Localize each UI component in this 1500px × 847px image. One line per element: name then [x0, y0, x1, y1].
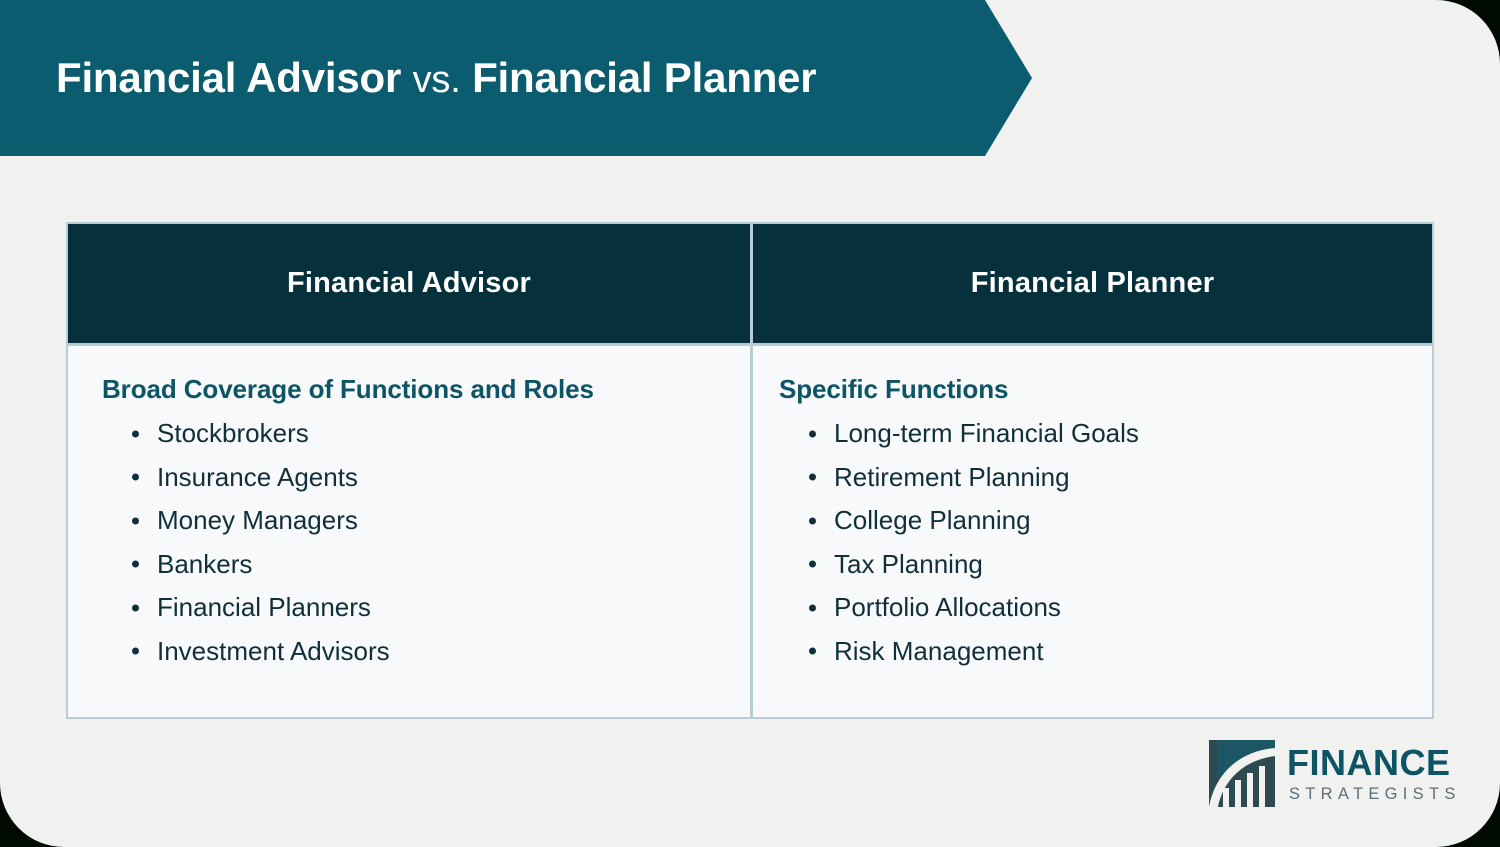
table-header-cell-financial-planner: Financial Planner — [750, 224, 1432, 343]
bullet-dot-icon — [132, 474, 139, 481]
bullet-dot-icon — [809, 604, 816, 611]
table-body-row: Broad Coverage of Functions and Roles St… — [68, 343, 1432, 717]
list-item: Bankers — [102, 543, 720, 587]
list-item-label: Insurance Agents — [157, 462, 358, 492]
header-banner: Financial Advisor vs. Financial Planner — [0, 0, 1032, 156]
list-item: Stockbrokers — [102, 412, 720, 456]
logo-primary-text: FINANCE — [1287, 745, 1461, 781]
cell-heading: Specific Functions — [779, 374, 1402, 405]
table-header-label: Financial Advisor — [287, 267, 531, 300]
bullet-dot-icon — [132, 648, 139, 655]
table-header-row: Financial Advisor Financial Planner — [68, 224, 1432, 343]
list-item-label: Tax Planning — [834, 549, 983, 579]
comparison-table: Financial Advisor Financial Planner Broa… — [66, 222, 1434, 719]
title-vs-separator: vs. — [413, 59, 461, 101]
list-item: Long-term Financial Goals — [779, 412, 1402, 456]
list-item: Money Managers — [102, 499, 720, 543]
table-cell-financial-advisor: Broad Coverage of Functions and Roles St… — [68, 346, 750, 717]
list-item-label: Long-term Financial Goals — [834, 418, 1139, 448]
bullet-dot-icon — [132, 604, 139, 611]
bullet-dot-icon — [809, 561, 816, 568]
list-item: Financial Planners — [102, 586, 720, 630]
bullet-dot-icon — [132, 561, 139, 568]
list-item: Investment Advisors — [102, 630, 720, 674]
list-item-label: Investment Advisors — [157, 636, 390, 666]
list-item: Insurance Agents — [102, 456, 720, 500]
list-item: Risk Management — [779, 630, 1402, 674]
bullet-dot-icon — [809, 517, 816, 524]
title-right-term: Financial Planner — [472, 54, 816, 101]
table-header-label: Financial Planner — [971, 267, 1215, 300]
finance-strategists-bar-chart-icon — [1209, 740, 1275, 807]
list-item-label: Portfolio Allocations — [834, 592, 1061, 622]
brand-logo: FINANCE STRATEGISTS — [1209, 740, 1461, 807]
list-item-label: Retirement Planning — [834, 462, 1070, 492]
table-header-cell-financial-advisor: Financial Advisor — [68, 224, 750, 343]
list-item-label: Financial Planners — [157, 592, 371, 622]
list-item-label: Risk Management — [834, 636, 1044, 666]
list-item-label: Bankers — [157, 549, 252, 579]
logo-wordmark: FINANCE STRATEGISTS — [1287, 745, 1461, 803]
list-item-label: Money Managers — [157, 505, 358, 535]
page-title: Financial Advisor vs. Financial Planner — [56, 54, 816, 102]
bullet-dot-icon — [809, 474, 816, 481]
bullet-dot-icon — [132, 430, 139, 437]
bullet-list-financial-advisor: Stockbrokers Insurance Agents Money Mana… — [102, 412, 720, 673]
table-cell-financial-planner: Specific Functions Long-term Financial G… — [750, 346, 1432, 717]
title-left-term: Financial Advisor — [56, 54, 401, 101]
list-item: College Planning — [779, 499, 1402, 543]
bullet-list-financial-planner: Long-term Financial Goals Retirement Pla… — [779, 412, 1402, 673]
list-item-label: Stockbrokers — [157, 418, 309, 448]
list-item: Tax Planning — [779, 543, 1402, 587]
bullet-dot-icon — [809, 430, 816, 437]
cell-heading: Broad Coverage of Functions and Roles — [102, 374, 720, 405]
list-item: Retirement Planning — [779, 456, 1402, 500]
list-item-label: College Planning — [834, 505, 1031, 535]
logo-secondary-text: STRATEGISTS — [1289, 786, 1461, 803]
bullet-dot-icon — [809, 648, 816, 655]
infographic-card: Financial Advisor vs. Financial Planner … — [0, 0, 1500, 847]
list-item: Portfolio Allocations — [779, 586, 1402, 630]
bullet-dot-icon — [132, 517, 139, 524]
